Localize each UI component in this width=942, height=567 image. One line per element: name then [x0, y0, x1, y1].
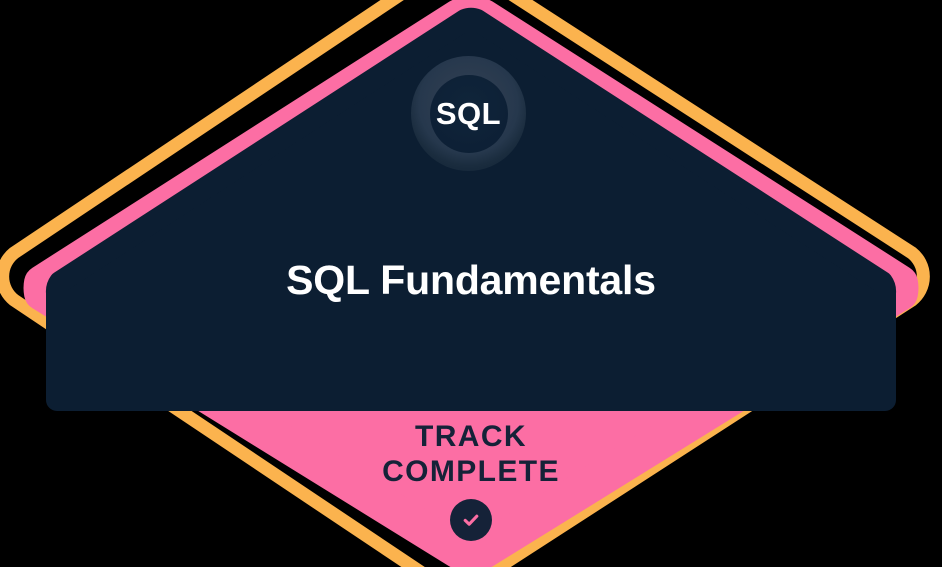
page-title: SQL Fundamentals [0, 258, 942, 303]
completion-line-1: TRACK [0, 420, 942, 455]
sql-emblem-label: SQL [436, 98, 501, 129]
sql-emblem-ring-icon: SQL [411, 56, 526, 171]
sql-emblem-core: SQL [430, 75, 508, 153]
completion-status: TRACK COMPLETE [0, 420, 942, 541]
track-completion-badge: SQL SQL Fundamentals TRACK COMPLETE [0, 0, 942, 567]
check-circle-icon [450, 499, 492, 541]
completion-line-2: COMPLETE [0, 455, 942, 490]
